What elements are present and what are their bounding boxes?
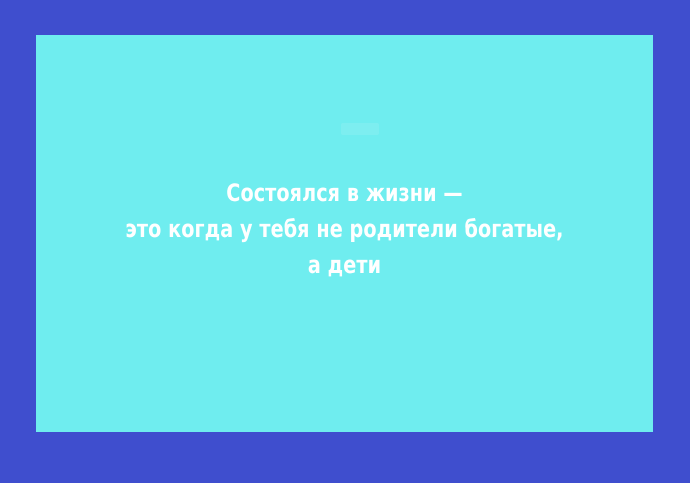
quote-line-3: а дети [98,247,592,283]
quote-text-block: Состоялся в жизни — это когда у тебя не … [98,175,592,283]
quote-line-2: это когда у тебя не родители богатые, [98,211,592,247]
poster-canvas: Состоялся в жизни — это когда у тебя не … [0,0,690,483]
faint-highlight-artifact [341,123,379,135]
quote-card: Состоялся в жизни — это когда у тебя не … [36,35,653,432]
quote-line-1: Состоялся в жизни — [98,175,592,211]
